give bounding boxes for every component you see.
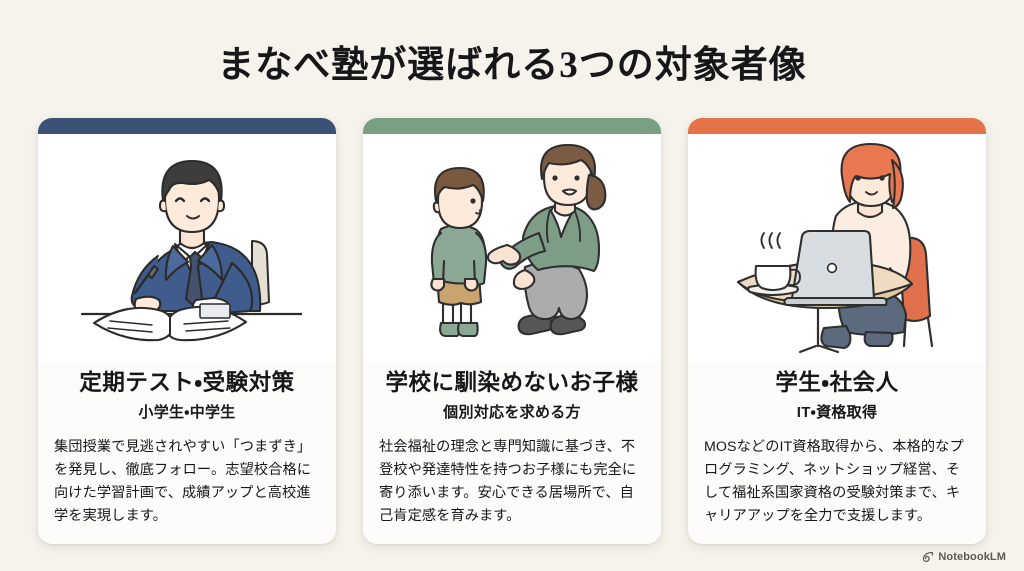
parent-crouching-talking-to-child-illustration bbox=[363, 134, 661, 362]
feature-card-school-support[interactable]: 学校に馴染めないお子様 個別対応を求める方 社会福祉の理念と専門知識に基づき、不… bbox=[363, 118, 661, 544]
card-accent-bar bbox=[38, 118, 336, 134]
feature-card-exam-prep[interactable]: 定期テスト・受験対策 小学生・中学生 集団授業で見逃されやすい「つまずき」を発見… bbox=[38, 118, 336, 544]
card-subheading: 小学生・中学生 bbox=[138, 403, 235, 423]
student-studying-at-desk-illustration bbox=[38, 134, 336, 362]
card-description: 集団授業で見逃されやすい「つまずき」を発見し、徹底フォロー。志望校合格に向けた学… bbox=[54, 436, 320, 529]
card-text-block: 学校に馴染めないお子様 個別対応を求める方 社会福祉の理念と専門知識に基づき、不… bbox=[363, 362, 661, 544]
notebooklm-label: NotebookLM bbox=[938, 551, 1006, 563]
card-heading: 学校に馴染めないお子様 bbox=[385, 370, 638, 397]
card-text-block: 学生・社会人 IT・資格取得 MOSなどのIT資格取得から、本格的なプログラミン… bbox=[688, 362, 986, 544]
notebooklm-spiral-icon bbox=[922, 551, 934, 563]
feature-card-career-it[interactable]: 学生・社会人 IT・資格取得 MOSなどのIT資格取得から、本格的なプログラミン… bbox=[688, 118, 986, 544]
card-accent-bar bbox=[363, 118, 661, 134]
card-description: 社会福祉の理念と専門知識に基づき、不登校や発達特性を持つお子様にも完全に寄り添い… bbox=[379, 436, 645, 529]
woman-working-on-laptop-at-cafe-illustration bbox=[688, 134, 986, 362]
page-title: まなべ塾が選ばれる3つの対象者像 bbox=[0, 34, 1024, 88]
card-subheading: 個別対応を求める方 bbox=[443, 403, 581, 423]
card-subheading: IT・資格取得 bbox=[797, 403, 878, 423]
card-heading: 定期テスト・受験対策 bbox=[79, 370, 294, 397]
card-heading: 学生・社会人 bbox=[775, 370, 898, 397]
card-accent-bar bbox=[688, 118, 986, 134]
card-text-block: 定期テスト・受験対策 小学生・中学生 集団授業で見逃されやすい「つまずき」を発見… bbox=[38, 362, 336, 544]
notebooklm-watermark: NotebookLM bbox=[922, 551, 1006, 563]
card-description: MOSなどのIT資格取得から、本格的なプログラミング、ネットショップ経営、そして… bbox=[704, 436, 970, 529]
feature-card-row: 定期テスト・受験対策 小学生・中学生 集団授業で見逃されやすい「つまずき」を発見… bbox=[38, 118, 986, 544]
